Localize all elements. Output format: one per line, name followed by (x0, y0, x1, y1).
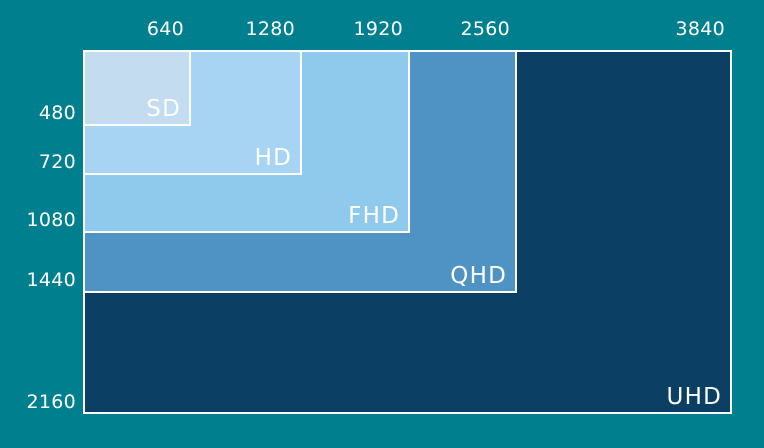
resolution-box-sd[interactable]: SD (83, 50, 191, 126)
x-tick-label-1280: 1280 (245, 18, 295, 40)
x-tick-label-2560: 2560 (460, 18, 510, 40)
resolution-label-qhd: QHD (450, 263, 507, 289)
y-tick-text-480: 480 (39, 102, 76, 124)
resolution-label-fhd: FHD (348, 203, 400, 229)
y-tick-text-720: 720 (39, 151, 76, 173)
x-tick-label-1920: 1920 (353, 18, 403, 40)
x-tick-label-640: 640 (147, 18, 184, 40)
y-tick-text-1080: 1080 (26, 209, 76, 231)
resolution-label-uhd: UHD (667, 384, 722, 410)
resolution-comparison-chart: UHD QHD FHD HD SD 640 1280 1920 2560 384… (0, 0, 764, 448)
y-tick-text-1440: 1440 (26, 269, 76, 291)
resolution-label-hd: HD (255, 145, 292, 171)
resolution-label-sd: SD (146, 96, 181, 122)
y-tick-text-2160: 2160 (26, 391, 76, 413)
x-tick-label-3840: 3840 (675, 18, 725, 40)
